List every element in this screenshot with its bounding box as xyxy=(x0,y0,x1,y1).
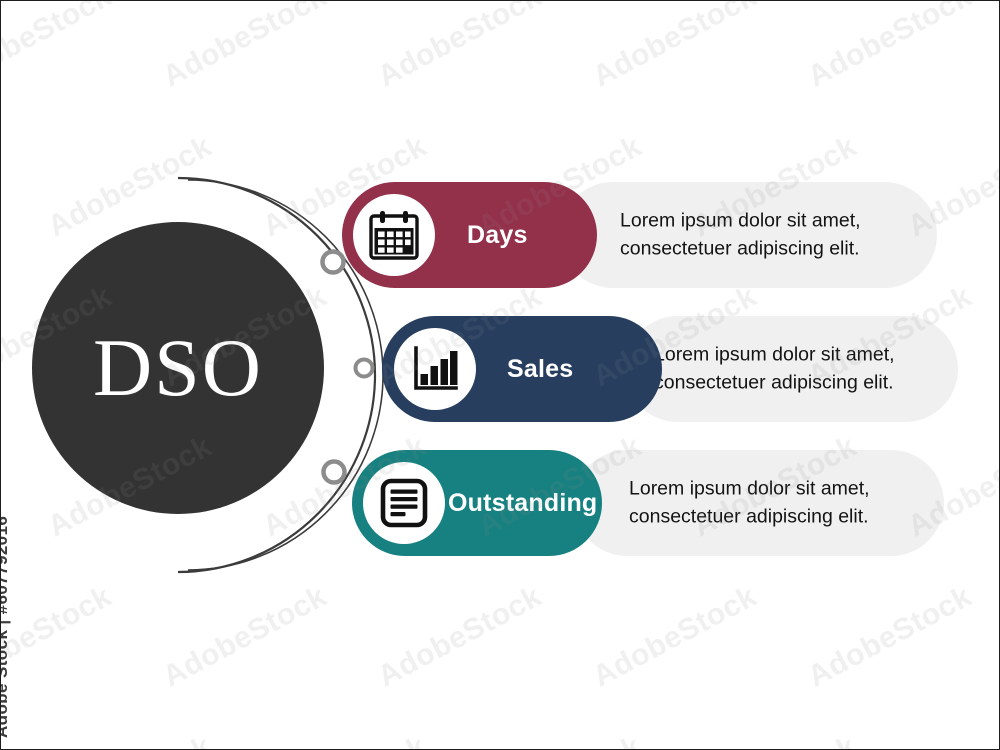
pill-label-outstanding: Outstanding xyxy=(448,489,597,518)
connector-node-days xyxy=(323,252,344,273)
infographic-canvas: DSO Lorem ipsum dolor sit amet, consecte… xyxy=(0,0,1000,750)
pill-days[interactable]: Days xyxy=(342,182,597,288)
calendar-icon xyxy=(353,194,435,276)
hub-label: DSO xyxy=(93,327,263,409)
connector-node-outstanding xyxy=(324,462,345,483)
description-text-days: Lorem ipsum dolor sit amet, consectetuer… xyxy=(620,207,920,262)
pill-outstanding[interactable]: Outstanding xyxy=(352,450,602,556)
description-text-outstanding: Lorem ipsum dolor sit amet, consectetuer… xyxy=(629,475,929,530)
bar-chart-icon xyxy=(394,328,476,410)
row-days[interactable]: Lorem ipsum dolor sit amet, consectetuer… xyxy=(342,182,937,288)
description-text-sales: Lorem ipsum dolor sit amet, consectetuer… xyxy=(654,341,954,396)
connector-node-sales xyxy=(356,360,373,377)
hub-circle: DSO xyxy=(32,222,324,514)
document-icon xyxy=(363,462,445,544)
pill-label-sales: Sales xyxy=(507,355,573,384)
pill-label-days: Days xyxy=(467,221,528,250)
pill-sales[interactable]: Sales xyxy=(382,316,662,422)
row-outstanding[interactable]: Lorem ipsum dolor sit amet, consectetuer… xyxy=(352,450,944,556)
row-sales[interactable]: Lorem ipsum dolor sit amet, consectetuer… xyxy=(382,316,958,422)
stock-credit: Adobe Stock | #607792016 xyxy=(0,516,12,738)
